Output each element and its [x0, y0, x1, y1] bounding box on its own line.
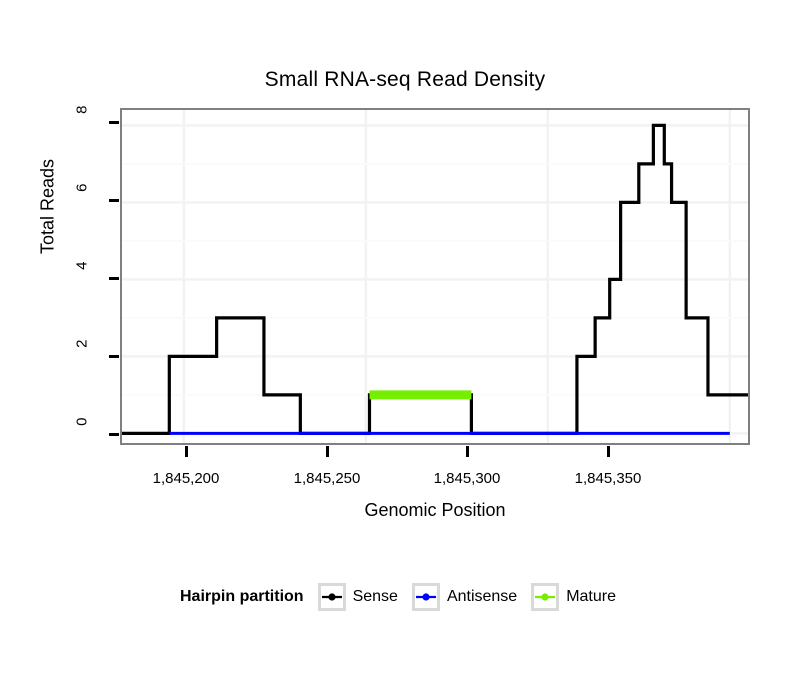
y-tick-label-2: 2: [74, 340, 91, 380]
plot-panel: [120, 108, 750, 445]
x-axis-title: Genomic Position: [120, 500, 750, 521]
legend-item-sense[interactable]: Sense: [318, 583, 398, 611]
x-tick-mark-2: [466, 446, 469, 457]
x-tick-mark-1: [326, 446, 329, 457]
x-tick-label-2: 1,845,300: [407, 470, 527, 487]
chart-legend: Hairpin partition Sense Antisense: [0, 583, 810, 611]
legend-label-antisense: Antisense: [447, 588, 517, 606]
legend-item-antisense[interactable]: Antisense: [412, 583, 517, 611]
legend-title: Hairpin partition: [180, 588, 304, 606]
y-tick-mark-4: [109, 277, 119, 280]
y-tick-mark-6: [109, 199, 119, 202]
line-marker-icon: [321, 586, 343, 608]
x-tick-mark-0: [185, 446, 188, 457]
legend-key-antisense: [412, 583, 440, 611]
plot-area: [122, 110, 748, 443]
y-tick-mark-0: [109, 433, 119, 436]
y-tick-label-0: 0: [74, 418, 91, 458]
chart-figure: Small RNA-seq Read Density Total Reads G…: [0, 0, 810, 690]
legend-label-mature: Mature: [566, 588, 616, 606]
legend-label-sense: Sense: [353, 588, 398, 606]
y-tick-label-8: 8: [74, 106, 91, 146]
chart-title: Small RNA-seq Read Density: [0, 68, 810, 92]
y-tick-label-6: 6: [74, 184, 91, 224]
y-tick-mark-2: [109, 355, 119, 358]
x-tick-mark-3: [607, 446, 610, 457]
line-marker-icon: [415, 586, 437, 608]
legend-key-mature: [531, 583, 559, 611]
x-tick-label-0: 1,845,200: [126, 470, 246, 487]
x-tick-label-3: 1,845,350: [548, 470, 668, 487]
y-axis-title: Total Reads: [38, 127, 59, 287]
x-tick-label-1: 1,845,250: [267, 470, 387, 487]
y-tick-label-4: 4: [74, 262, 91, 302]
line-marker-icon: [534, 586, 556, 608]
y-tick-mark-8: [109, 121, 119, 124]
legend-key-sense: [318, 583, 346, 611]
legend-item-mature[interactable]: Mature: [531, 583, 616, 611]
